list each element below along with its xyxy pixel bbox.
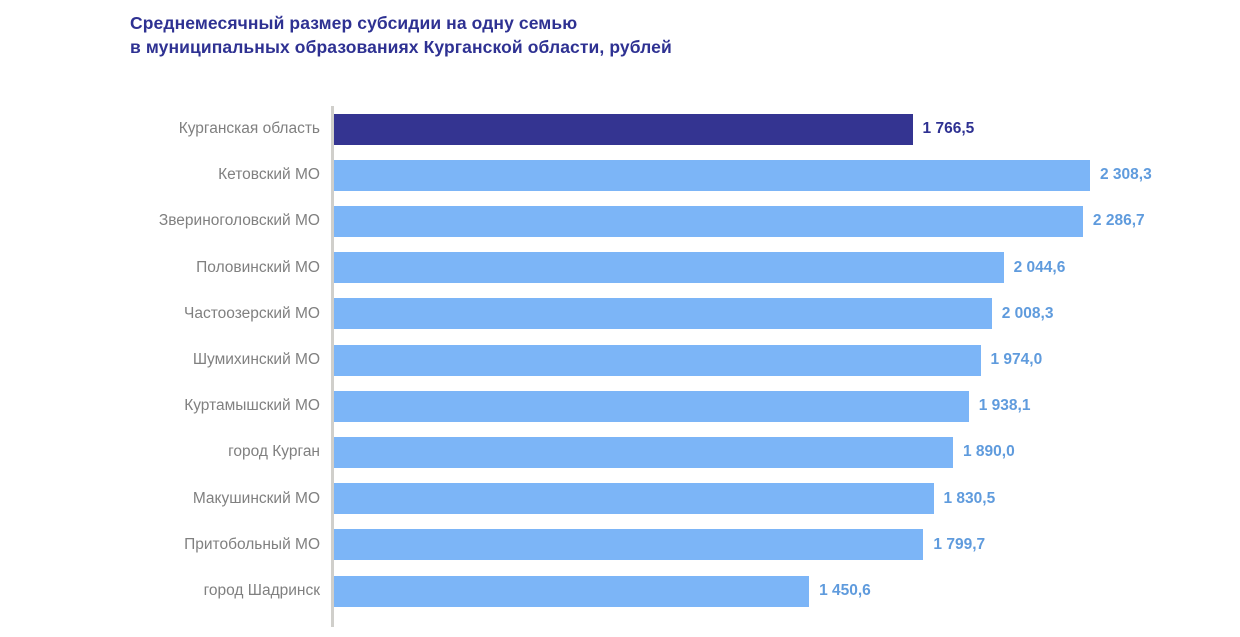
value-label: 2 308,3 (1100, 152, 1152, 198)
bar-row: Шумихинский МО1 974,0 (0, 337, 1240, 383)
chart-container: Среднемесячный размер субсидии на одну с… (0, 0, 1240, 637)
bar-row: Куртамышский МО1 938,1 (0, 383, 1240, 429)
bar[interactable] (334, 529, 923, 560)
category-label: Курганская область (179, 106, 320, 152)
bar-highlight[interactable] (334, 114, 913, 145)
value-label: 1 890,0 (963, 429, 1015, 475)
category-label: Куртамышский МО (184, 383, 320, 429)
bar-row: город Шадринск1 450,6 (0, 568, 1240, 614)
category-label: Частоозерский МО (184, 291, 320, 337)
bar[interactable] (334, 345, 981, 376)
bar[interactable] (334, 160, 1090, 191)
category-label: город Шадринск (204, 568, 320, 614)
bar[interactable] (334, 483, 934, 514)
bar-row: Курганская область1 766,5 (0, 106, 1240, 152)
bar-row: Частоозерский МО2 008,3 (0, 291, 1240, 337)
category-label: Притобольный МО (184, 522, 320, 568)
plot-area: Курганская область1 766,5Кетовский МО2 3… (0, 0, 1240, 637)
bar-row: Половинский МО2 044,6 (0, 245, 1240, 291)
value-label: 2 044,6 (1014, 245, 1066, 291)
bar[interactable] (334, 391, 969, 422)
category-label: Кетовский МО (218, 152, 320, 198)
category-label: город Курган (228, 429, 320, 475)
bar[interactable] (334, 298, 992, 329)
value-label: 1 938,1 (979, 383, 1031, 429)
bar[interactable] (334, 206, 1083, 237)
bar[interactable] (334, 437, 953, 468)
value-label: 1 830,5 (944, 476, 996, 522)
category-label: Звериноголовский МО (159, 198, 320, 244)
value-label: 1 799,7 (933, 522, 985, 568)
value-label: 1 766,5 (923, 106, 975, 152)
value-label: 2 008,3 (1002, 291, 1054, 337)
category-label: Макушинский МО (193, 476, 320, 522)
bar-row: Звериноголовский МО2 286,7 (0, 198, 1240, 244)
value-label: 1 450,6 (819, 568, 871, 614)
bar-row: Притобольный МО1 799,7 (0, 522, 1240, 568)
bar[interactable] (334, 252, 1004, 283)
category-label: Половинский МО (196, 245, 320, 291)
bar-row: Кетовский МО2 308,3 (0, 152, 1240, 198)
value-label: 1 974,0 (991, 337, 1043, 383)
bar-row: Макушинский МО1 830,5 (0, 476, 1240, 522)
bar[interactable] (334, 576, 809, 607)
category-label: Шумихинский МО (193, 337, 320, 383)
bar-row: город Курган1 890,0 (0, 429, 1240, 475)
value-label: 2 286,7 (1093, 198, 1145, 244)
